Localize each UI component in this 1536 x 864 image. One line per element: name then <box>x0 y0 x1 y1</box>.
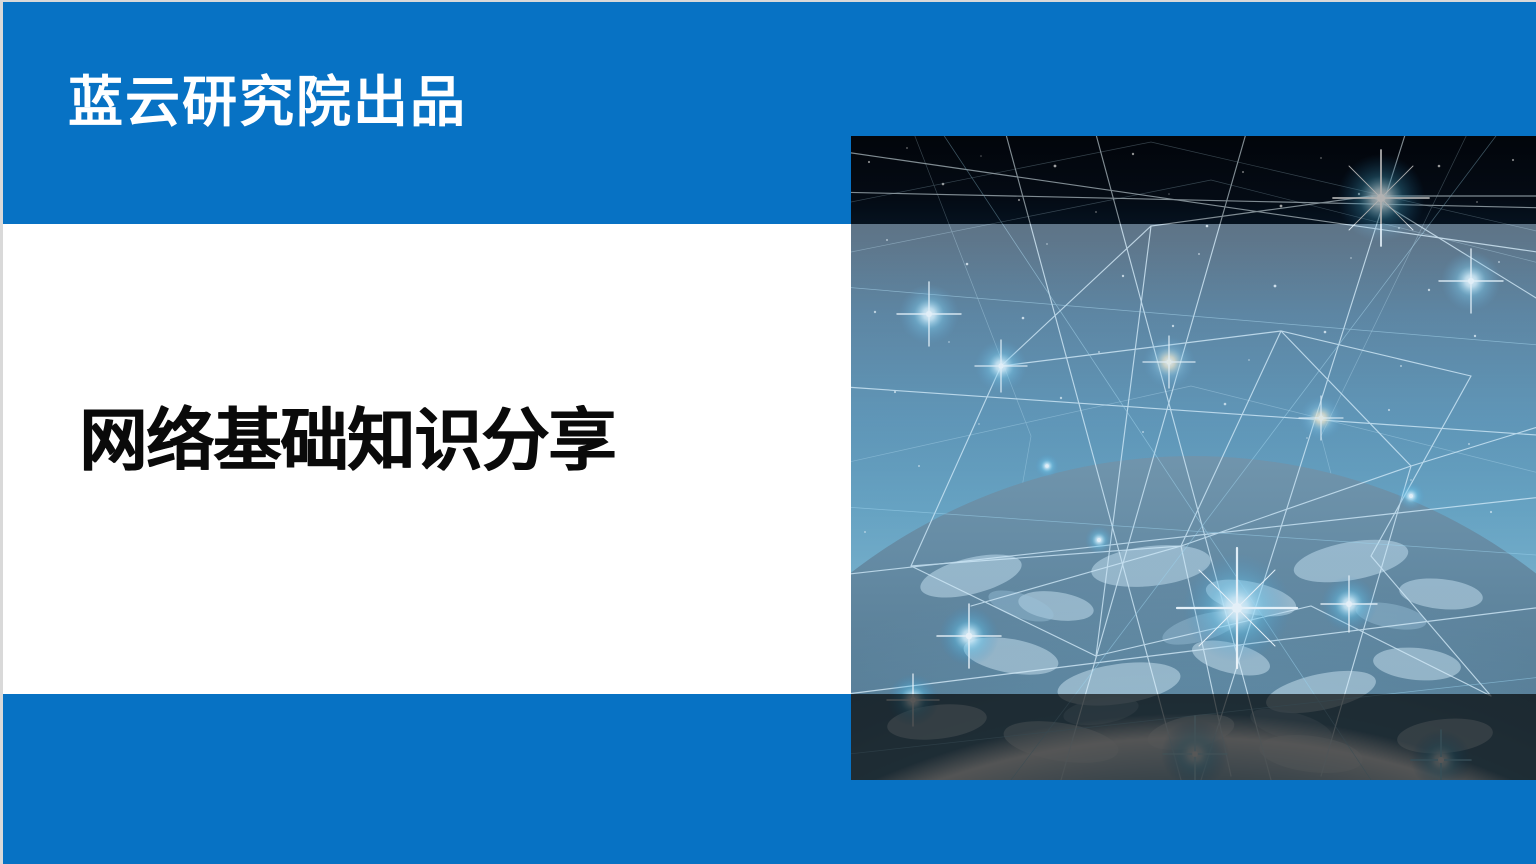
slide-top-edge <box>0 0 1536 2</box>
global-network-earth-photo <box>851 136 1536 780</box>
presentation-slide: 蓝云研究院出品 网络基础知识分享 <box>0 0 1536 864</box>
slide-left-edge <box>0 0 3 864</box>
slide-header-title: 蓝云研究院出品 <box>68 68 467 138</box>
slide-main-title: 网络基础知识分享 <box>79 400 615 482</box>
